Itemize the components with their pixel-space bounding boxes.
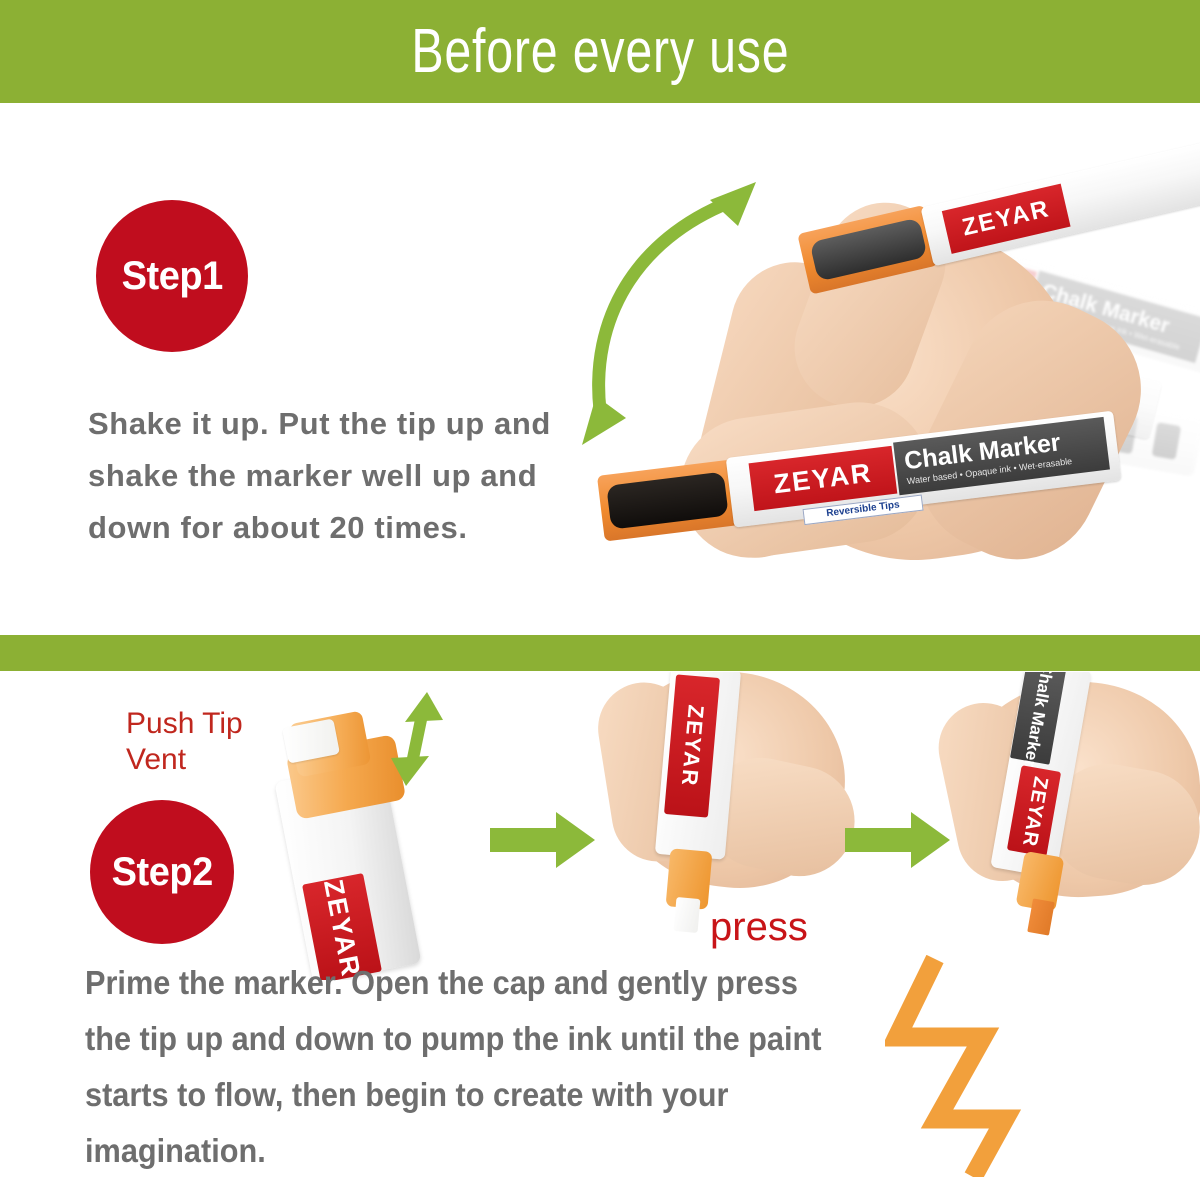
push-tip-double-arrow-icon [385,690,455,790]
marker-chisel-tip [674,897,701,933]
shake-motion-arrow-icon [560,160,810,450]
marker-brand-text: ZEYAR [772,457,874,500]
step2-description: Prime the marker. Open the cap and gentl… [85,955,829,1179]
page-title: Before every use [411,21,789,83]
step1-description: Shake it up. Put the tip up and shake th… [88,398,588,554]
marker-brand-text: ZEYAR [1017,774,1052,848]
header-banner: Before every use [0,0,1200,103]
step1-badge-label: Step1 [121,254,222,299]
push-tip-vent-label: Push Tip Vent [126,706,243,778]
arrow-right-icon [845,812,950,868]
step1-badge: Step1 [96,200,248,352]
press-label: press [710,905,808,950]
step2-badge: Step2 [90,800,234,944]
marker-brand-text: ZEYAR [675,704,708,788]
marker-chisel-tip [1027,898,1055,935]
step1-photo: ZEYAR Chalk Marker Water based • Opaque … [560,110,1200,655]
orange-ink-stroke [885,955,1125,1177]
step2-tip-closeup-photo: ZEYAR [265,690,495,980]
arrow-right-icon [490,812,595,868]
section-divider [0,635,1200,671]
infographic-page: Before every use ZEYAR Chalk Marker Wate… [0,0,1200,1177]
step2-draw-photo: Chalk Marker ZEYAR [930,672,1200,982]
step2-badge-label: Step2 [111,850,212,895]
